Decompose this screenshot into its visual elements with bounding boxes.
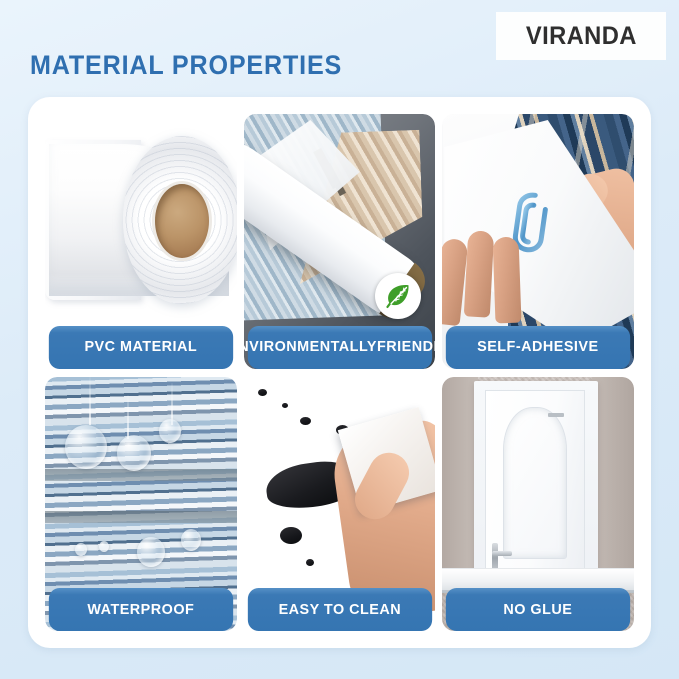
water-droplet-shape — [65, 425, 107, 469]
water-droplet-shape — [159, 419, 181, 443]
door-leaf-shape — [485, 390, 585, 586]
water-droplet-shape — [99, 541, 109, 552]
feature-label-self-adhesive: SELF-ADHESIVE — [446, 326, 630, 369]
droplet-trail-shape — [127, 395, 129, 439]
product-feature-infographic: MATERIAL PROPERTIES VIRANDA PVC MATERIAL — [0, 0, 679, 679]
ink-spot-shape — [300, 417, 311, 425]
feature-label-no-glue: NO GLUE — [446, 588, 630, 631]
ink-spot-shape — [258, 389, 267, 396]
eco-badge — [375, 273, 421, 319]
feature-tile-no-glue[interactable]: NO GLUE — [442, 377, 634, 632]
finger-shape — [464, 230, 494, 317]
brand-name: VIRANDA — [526, 22, 637, 51]
features-card: PVC MATERIAL — [28, 97, 651, 648]
leaf-icon — [383, 281, 413, 311]
water-droplet-shape — [75, 543, 87, 556]
feature-label-easy-to-clean: EASY TO CLEAN — [247, 588, 431, 631]
features-grid: PVC MATERIAL — [45, 114, 634, 631]
door-latch-shape — [548, 413, 564, 417]
feature-label-line-1: ENVIRONMENTALLY — [244, 339, 377, 355]
droplet-trail-shape — [89, 377, 91, 425]
dark-stripe-shape — [45, 511, 237, 523]
door-handle-lever-shape — [492, 551, 512, 556]
feature-label-line-2: FRIENDLY — [377, 339, 436, 355]
water-droplet-shape — [117, 435, 151, 471]
baseboard-shape — [442, 568, 634, 590]
feature-tile-easy-to-clean[interactable]: EASY TO CLEAN — [244, 377, 436, 632]
door-frame-shape — [474, 381, 598, 586]
ink-spot-shape — [306, 559, 314, 566]
left-hand-shape — [442, 221, 544, 331]
ink-spot-shape — [280, 527, 302, 544]
feature-tile-waterproof[interactable]: WATERPROOF — [45, 377, 237, 632]
feature-label-pvc-material: PVC MATERIAL — [49, 326, 233, 369]
door-panel-upper-shape — [503, 407, 567, 559]
water-droplet-shape — [137, 537, 165, 567]
feature-label-waterproof: WATERPROOF — [49, 588, 233, 631]
finger-shape — [493, 236, 522, 323]
feature-tile-pvc-material[interactable]: PVC MATERIAL — [45, 114, 237, 369]
page-title: MATERIAL PROPERTIES — [30, 50, 342, 81]
feature-label-environmentally-friendly: ENVIRONMENTALLY FRIENDLY — [247, 326, 431, 369]
pvc-cardboard-core-shape — [155, 184, 209, 258]
brand-logo: VIRANDA — [496, 12, 666, 60]
ink-spot-shape — [282, 403, 288, 408]
feature-tile-self-adhesive[interactable]: SELF-ADHESIVE — [442, 114, 634, 369]
dark-stripe-shape — [45, 469, 237, 481]
feature-tile-environmentally-friendly[interactable]: ENVIRONMENTALLY FRIENDLY — [244, 114, 436, 369]
wall-right-shape — [592, 377, 634, 586]
wall-left-shape — [442, 377, 478, 586]
header: MATERIAL PROPERTIES VIRANDA — [0, 0, 679, 100]
water-droplet-shape — [181, 529, 201, 551]
